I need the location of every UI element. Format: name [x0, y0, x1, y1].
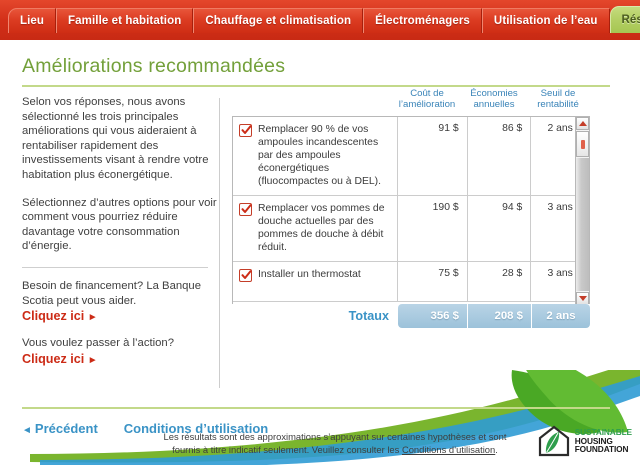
- action-link[interactable]: Cliquez ici ►: [22, 352, 218, 366]
- improvement-description: Installer un thermostat: [258, 268, 361, 281]
- footer-divider: [22, 407, 610, 409]
- cell-cost: 190 $: [398, 196, 468, 261]
- cell-savings: 94 $: [468, 196, 532, 261]
- intro-paragraph-2: Sélectionnez d’autres options pour voir …: [22, 196, 218, 254]
- table-column-headers: Coût de l’amélioration Économies annuell…: [232, 88, 610, 116]
- arrow-right-icon: ►: [88, 312, 98, 323]
- triangle-up-icon: [579, 121, 587, 126]
- checkbox-checked-icon[interactable]: [239, 203, 252, 216]
- tab-label: Résultats: [622, 14, 640, 26]
- table-row: Remplacer vos pommes de douche actuelles…: [233, 196, 589, 262]
- totals-label: Totaux: [232, 304, 398, 328]
- energy-calculator-app: Lieu Famille et habitation Chauffage et …: [0, 0, 640, 465]
- sustainable-housing-foundation-logo: SUSTAINABLE HOUSING FOUNDATION: [537, 424, 632, 458]
- table-row: Installer un thermostat 75 $ 28 $ 3 ans: [233, 262, 589, 302]
- totals-row: Totaux 356 $ 208 $ 2 ans: [232, 304, 590, 328]
- action-link-label: Cliquez ici: [22, 352, 84, 366]
- intro-paragraph-1: Selon vos réponses, nous avons sélection…: [22, 95, 218, 183]
- disclaimer-line-2-prefix: fournis à titre indicatif seulement. Veu…: [172, 444, 402, 455]
- financing-link-label: Cliquez ici: [22, 309, 84, 323]
- totals-savings: 208 $: [468, 304, 532, 328]
- table-scroll-area: Remplacer 90 % de vos ampoules incandesc…: [232, 116, 590, 304]
- logo-line-3: FOUNDATION: [575, 445, 632, 454]
- tab-bar: Lieu Famille et habitation Chauffage et …: [0, 0, 640, 40]
- tab-label: Électroménagers: [375, 15, 470, 27]
- improvement-description: Remplacer 90 % de vos ampoules incandesc…: [258, 123, 391, 188]
- financing-link[interactable]: Cliquez ici ►: [22, 309, 218, 323]
- cell-savings: 28 $: [468, 262, 532, 301]
- cell-description: Installer un thermostat: [233, 262, 398, 301]
- tab-lieu[interactable]: Lieu: [8, 8, 56, 33]
- tab-label: Utilisation de l’eau: [494, 15, 598, 27]
- scroll-down-button[interactable]: [576, 292, 589, 304]
- page-title: Améliorations recommandées: [22, 55, 285, 78]
- previous-label: Précédent: [35, 421, 98, 436]
- tab-resultats[interactable]: Résultats: [610, 6, 640, 33]
- cell-description: Remplacer 90 % de vos ampoules incandesc…: [233, 117, 398, 195]
- column-header-threshold: Seuil de rentabilité: [526, 88, 590, 116]
- column-header-cost: Coût de l’amélioration: [392, 88, 462, 116]
- disclaimer-terms-link[interactable]: Conditions d’utilisation: [402, 444, 495, 455]
- house-leaf-icon: [537, 424, 571, 458]
- thumb-grip-icon: [581, 140, 585, 149]
- tab-label: Lieu: [20, 15, 44, 27]
- financing-text: Besoin de financement? La Banque Scotia …: [22, 279, 218, 308]
- column-header-savings: Économies annuelles: [462, 88, 526, 116]
- tab-famille-et-habitation[interactable]: Famille et habitation: [56, 8, 193, 33]
- disclaimer-line-2-suffix: .: [495, 444, 498, 455]
- arrow-left-icon: ◄: [22, 425, 32, 436]
- left-column: Selon vos réponses, nous avons sélection…: [22, 95, 218, 379]
- cell-description: Remplacer vos pommes de douche actuelles…: [233, 196, 398, 261]
- vertical-scrollbar[interactable]: [575, 117, 589, 304]
- totals-cost: 356 $: [398, 304, 468, 328]
- improvement-description: Remplacer vos pommes de douche actuelles…: [258, 202, 391, 254]
- action-text: Vous voulez passer à l’action?: [22, 336, 218, 351]
- tab-label: Famille et habitation: [68, 15, 181, 27]
- arrow-right-icon: ►: [88, 355, 98, 366]
- scrollbar-thumb[interactable]: [576, 131, 589, 157]
- column-divider: [219, 98, 220, 388]
- improvements-table: Coût de l’amélioration Économies annuell…: [232, 88, 610, 328]
- main-panel: Améliorations recommandées Selon vos rép…: [0, 40, 640, 465]
- logo-wordmark: SUSTAINABLE HOUSING FOUNDATION: [575, 428, 632, 454]
- previous-button[interactable]: ◄Précédent: [22, 421, 98, 436]
- triangle-down-icon: [579, 296, 587, 301]
- scrollbar-track[interactable]: [576, 158, 589, 291]
- table-row: Remplacer 90 % de vos ampoules incandesc…: [233, 117, 589, 196]
- cell-savings: 86 $: [468, 117, 532, 195]
- tab-chauffage-et-climatisation[interactable]: Chauffage et climatisation: [193, 8, 363, 33]
- tab-label: Chauffage et climatisation: [205, 15, 351, 27]
- checkbox-checked-icon[interactable]: [239, 124, 252, 137]
- cell-cost: 75 $: [398, 262, 468, 301]
- left-divider-1: [22, 267, 208, 268]
- tab-electromenagers[interactable]: Électroménagers: [363, 8, 482, 33]
- tab-utilisation-de-leau[interactable]: Utilisation de l’eau: [482, 8, 610, 33]
- cell-cost: 91 $: [398, 117, 468, 195]
- checkbox-checked-icon[interactable]: [239, 269, 252, 282]
- totals-threshold: 2 ans: [532, 304, 590, 328]
- title-divider: [22, 85, 610, 87]
- scroll-up-button[interactable]: [576, 117, 589, 130]
- disclaimer-line-1: Les résultats sont des approximations s’…: [164, 431, 507, 442]
- disclaimer-text: Les résultats sont des approximations s’…: [150, 431, 520, 456]
